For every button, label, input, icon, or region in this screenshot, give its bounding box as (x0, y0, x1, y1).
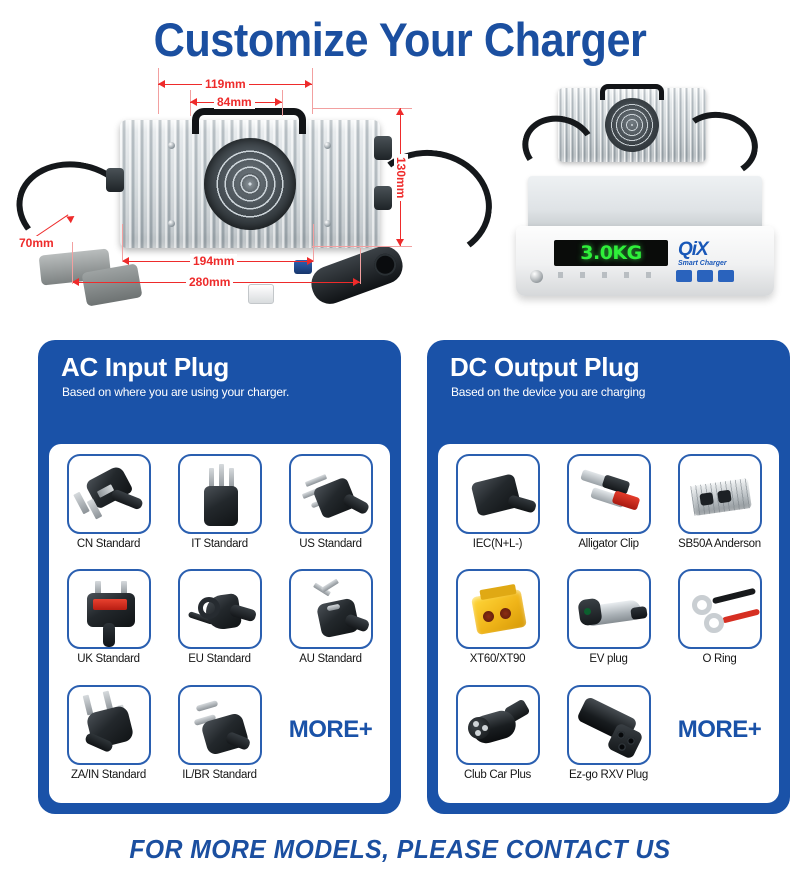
carry-handle (600, 84, 664, 100)
uk-plug-icon (67, 569, 151, 649)
plug-label: UK Standard (77, 653, 140, 665)
input-connector (106, 168, 124, 192)
carry-handle (192, 108, 306, 134)
scale-button-1[interactable] (676, 270, 692, 282)
club-car-plug-icon (456, 685, 540, 765)
plug-label: Alligator Clip (578, 538, 638, 550)
plug-cell-cn[interactable]: CN Standard (58, 454, 159, 562)
more-link-ac[interactable]: MORE+ (280, 685, 381, 793)
plug-cell-xt60[interactable]: XT60/XT90 (447, 569, 548, 677)
scale-button-3[interactable] (718, 270, 734, 282)
panel-subtitle-dc: Based on the device you are charging (438, 385, 779, 399)
inline-connector (248, 284, 274, 304)
il-br-plug-icon (178, 685, 262, 765)
plug-cell-sb50a[interactable]: SB50A Anderson (669, 454, 770, 562)
scale-platter (528, 176, 762, 232)
us-plug-icon (289, 454, 373, 534)
qix-logo: QiX (678, 240, 727, 259)
eu-plug-icon (178, 569, 262, 649)
o-ring-terminal-icon (678, 569, 762, 649)
plug-label: SB50A Anderson (678, 538, 761, 550)
panel-grid-ac: CN Standard IT Standard (49, 444, 390, 803)
plug-label: US Standard (299, 538, 362, 550)
scale-display: 3.0KG (554, 240, 668, 266)
scale-base: 3.0KG QiX Smart Charger (516, 226, 774, 296)
za-in-plug-icon (67, 685, 151, 765)
plug-label: ZA/IN Standard (71, 769, 146, 781)
brand-logo-area: QiX Smart Charger (678, 240, 727, 267)
plug-cell-eu[interactable]: EU Standard (169, 569, 270, 677)
alligator-clip-icon (567, 454, 651, 534)
panel-title-dc: DC Output Plug (438, 353, 779, 382)
panel-dc-output: DC Output Plug Based on the device you a… (427, 340, 790, 814)
panel-title-ac: AC Input Plug (49, 353, 390, 382)
screw-icon (168, 142, 175, 149)
weight-value: 3.0KG (580, 242, 641, 264)
plug-row: ZA/IN Standard IL/BR Standard MORE+ (58, 685, 381, 793)
plug-cell-ezgo-rxv[interactable]: Ez-go RXV Plug (558, 685, 659, 793)
plug-label: XT60/XT90 (470, 653, 525, 665)
infographic-page: Customize Your Charger (0, 0, 800, 884)
plug-cell-club-car[interactable]: Club Car Plus (447, 685, 548, 793)
plug-label: CN Standard (77, 538, 140, 550)
plug-label: IT Standard (191, 538, 248, 550)
hero-product-section: 119mm 84mm 130mm 70mm (0, 68, 800, 326)
cn-plug-icon (67, 454, 151, 534)
it-plug-icon (178, 454, 262, 534)
panel-subtitle-ac: Based on where you are using your charge… (49, 385, 390, 399)
sb50a-anderson-icon (678, 454, 762, 534)
plug-label: EV plug (589, 653, 627, 665)
plug-cell-alligator[interactable]: Alligator Clip (558, 454, 659, 562)
page-title: Customize Your Charger (32, 12, 768, 67)
plug-cell-ev[interactable]: EV plug (558, 569, 659, 677)
plug-cell-il-br[interactable]: IL/BR Standard (169, 685, 270, 793)
plug-row: Club Car Plus Ez-go RXV Plug MORE+ (447, 685, 770, 793)
plug-label: AU Standard (299, 653, 362, 665)
plug-label: EU Standard (188, 653, 251, 665)
display-indicators (558, 272, 663, 278)
plug-row: CN Standard IT Standard (58, 454, 381, 562)
weight-scale-photo: 3.0KG QiX Smart Charger (500, 76, 790, 316)
brand-tagline: Smart Charger (678, 260, 727, 267)
plug-cell-oring[interactable]: O Ring (669, 569, 770, 677)
plug-label: Club Car Plus (464, 769, 531, 781)
plug-row: XT60/XT90 EV plug (447, 569, 770, 677)
screw-icon (168, 220, 175, 227)
more-link-dc[interactable]: MORE+ (669, 685, 770, 793)
plug-cell-iec[interactable]: IEC(N+L-) (447, 454, 548, 562)
output-connector (374, 136, 392, 160)
screw-icon (324, 220, 331, 227)
plug-label: Ez-go RXV Plug (569, 769, 648, 781)
charger-photo (120, 110, 420, 290)
plug-cell-au[interactable]: AU Standard (280, 569, 381, 677)
plug-row: UK Standard EU Standard (58, 569, 381, 677)
plug-cell-us[interactable]: US Standard (280, 454, 381, 562)
fan-grille-icon (204, 138, 296, 230)
plug-cell-uk[interactable]: UK Standard (58, 569, 159, 677)
plug-row: IEC(N+L-) Alligator Clip (447, 454, 770, 562)
plug-label: IL/BR Standard (182, 769, 256, 781)
scale-button-2[interactable] (697, 270, 713, 282)
ezgo-rxv-plug-icon (567, 685, 651, 765)
panel-ac-input: AC Input Plug Based on where you are usi… (38, 340, 401, 814)
footer-contact-text: FOR MORE MODELS, PLEASE CONTACT US (20, 834, 780, 865)
iec-connector-icon (456, 454, 540, 534)
scale-buttons[interactable] (676, 270, 734, 282)
plug-label: IEC(N+L-) (473, 538, 522, 550)
plug-cell-it[interactable]: IT Standard (169, 454, 270, 562)
dc-plug-end (306, 241, 407, 309)
plug-label: O Ring (703, 653, 737, 665)
power-button[interactable] (530, 270, 543, 283)
xt60-connector-icon (456, 569, 540, 649)
plug-cell-za-in[interactable]: ZA/IN Standard (58, 685, 159, 793)
panel-grid-dc: IEC(N+L-) Alligator Clip (438, 444, 779, 803)
ev-plug-icon (567, 569, 651, 649)
au-plug-icon (289, 569, 373, 649)
output-connector (374, 186, 392, 210)
charger-housing (120, 120, 380, 248)
screw-icon (324, 142, 331, 149)
